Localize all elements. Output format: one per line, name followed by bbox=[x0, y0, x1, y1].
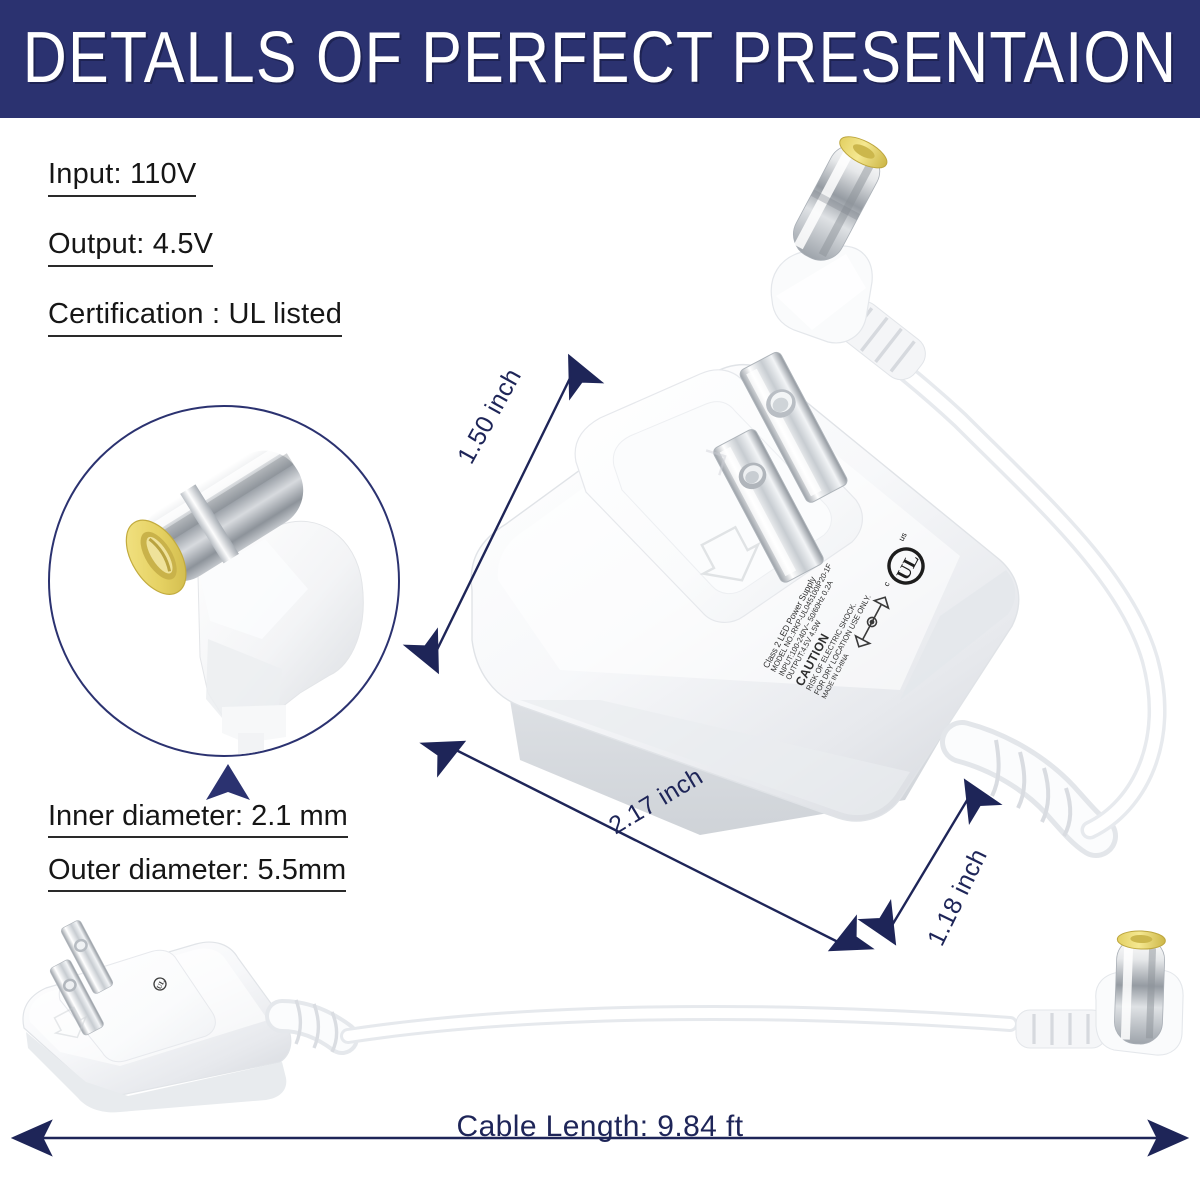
up-arrow-icon bbox=[206, 764, 250, 800]
cable-length-label: Cable Length: 9.84 ft bbox=[0, 1110, 1200, 1144]
outer-diameter-label: Outer diameter: 5.5mm bbox=[48, 854, 346, 892]
spec-certification: Certification : UL listed bbox=[48, 298, 342, 337]
small-ul-mark-icon: UL bbox=[152, 976, 168, 992]
cable-strain-relief bbox=[962, 740, 1096, 836]
infographic-page: DETALLS OF PERFECT PRESENTAION Input: 11… bbox=[0, 0, 1200, 1200]
spec-list: Input: 110V Output: 4.5V Certification :… bbox=[48, 158, 478, 368]
bottom-plug-ribs bbox=[1016, 1010, 1106, 1048]
dimension-height-label: 1.50 inch bbox=[452, 364, 528, 469]
dc-barrel-plug-top bbox=[771, 130, 932, 386]
spec-output: Output: 4.5V bbox=[48, 228, 213, 267]
long-power-cable bbox=[348, 1013, 1010, 1036]
diameter-list: Inner diameter: 2.1 mm Outer diameter: 5… bbox=[48, 800, 468, 908]
connector-closeup-circle bbox=[48, 405, 400, 757]
dimension-depth-label: 1.18 inch bbox=[922, 844, 994, 950]
small-ac-adapter: UL bbox=[23, 919, 342, 1112]
dimension-width-label: 2.17 inch bbox=[604, 762, 708, 841]
barrel-plug-closeup-illustration bbox=[50, 407, 400, 757]
dc-barrel-plug-bottom bbox=[1016, 930, 1183, 1055]
small-strain-relief bbox=[282, 1000, 342, 1052]
svg-text:UL: UL bbox=[155, 978, 167, 991]
page-title: DETALLS OF PERFECT PRESENTAION bbox=[23, 15, 1178, 98]
header-underline bbox=[0, 113, 1200, 118]
product-spec-label: Class 2 LED Power Supply MODEL NO.:RKP-U… bbox=[761, 497, 1053, 773]
embossed-arrow-icon bbox=[691, 522, 769, 595]
header-banner: DETALLS OF PERFECT PRESENTAION bbox=[0, 0, 1200, 113]
inner-diameter-label: Inner diameter: 2.1 mm bbox=[48, 800, 348, 838]
spec-input: Input: 110V bbox=[48, 158, 196, 197]
